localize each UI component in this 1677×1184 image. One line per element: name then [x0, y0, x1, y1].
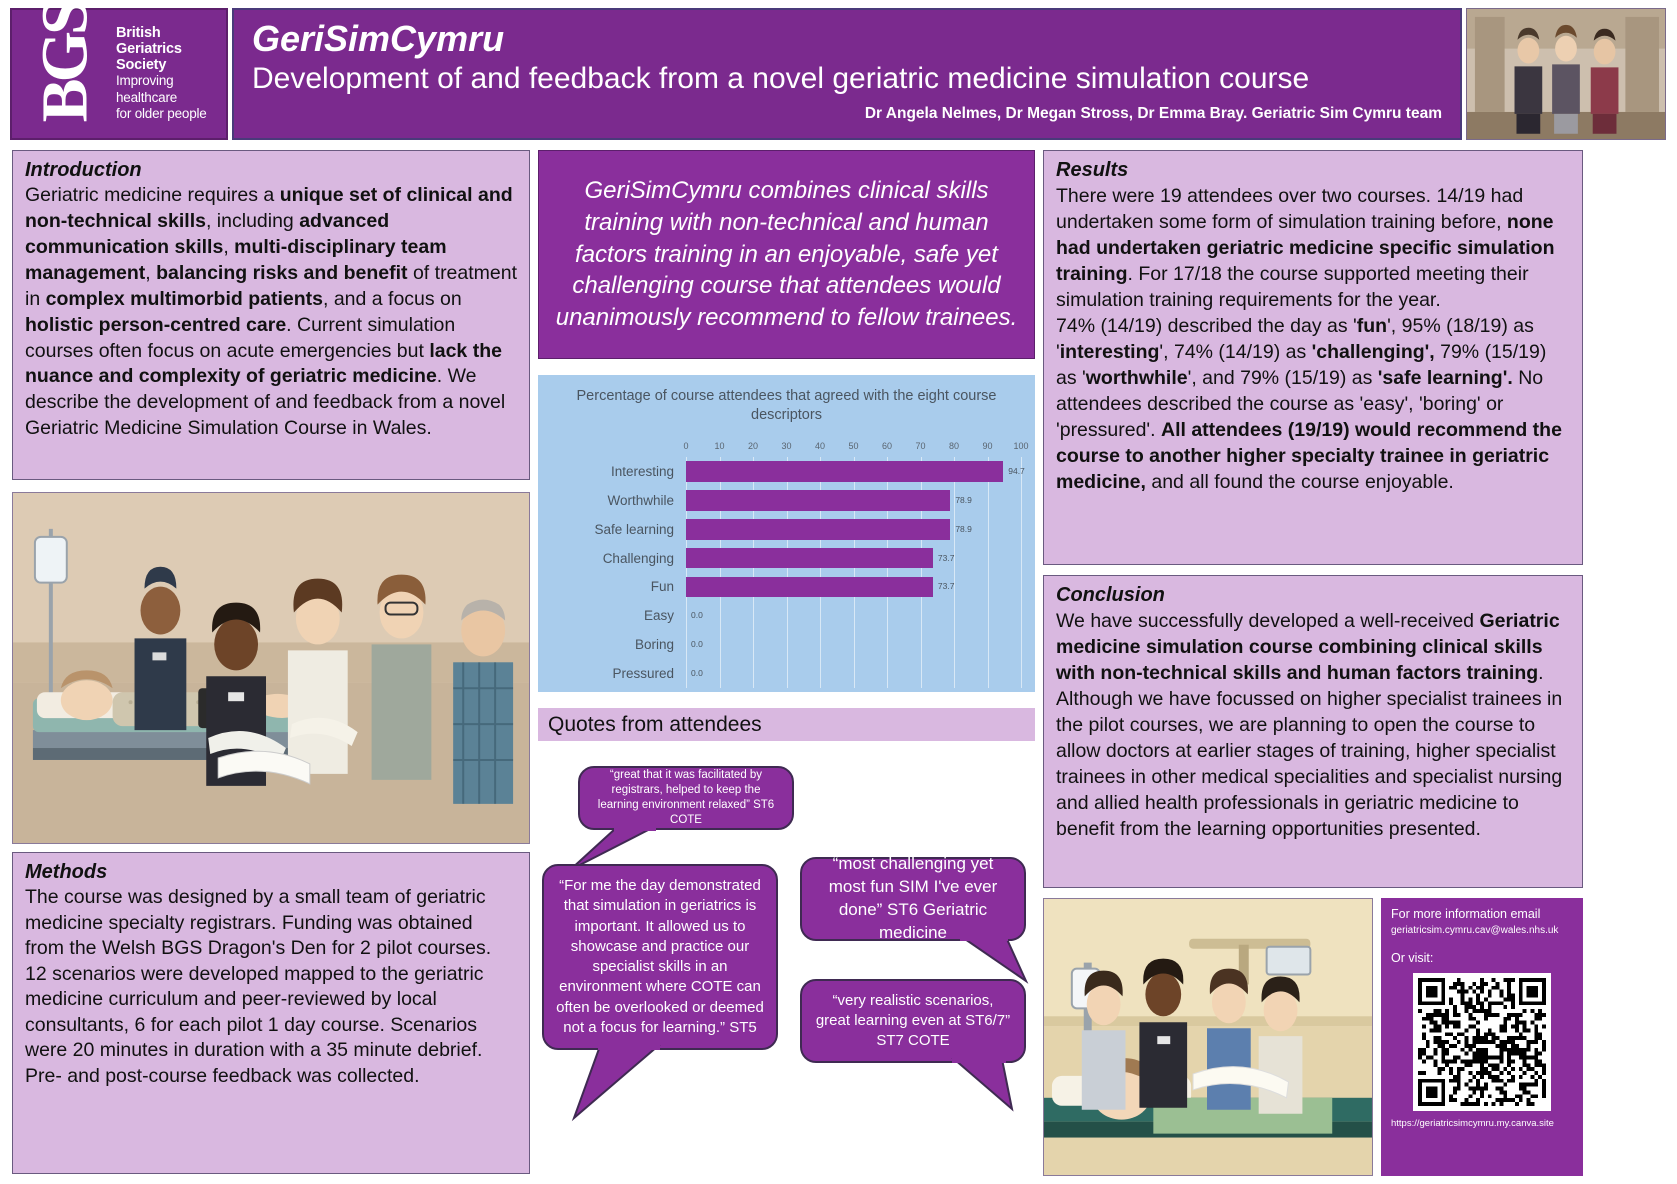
chart-bar-row: Worthwhile78.9: [538, 486, 1021, 515]
chart-bar: [686, 461, 1003, 482]
chart-bar-row: Fun73.7: [538, 573, 1021, 602]
quote-text-3: “most challenging yet most fun SIM I've …: [814, 853, 1012, 945]
key-statement-box: GeriSimCymru combines clinical skills tr…: [538, 150, 1035, 359]
team-photo-illustration: [1467, 9, 1665, 140]
author-list: Dr Angela Nelmes, Dr Megan Stross, Dr Em…: [252, 105, 1442, 123]
quote-bubble-2: “For me the day demonstrated that simula…: [542, 864, 778, 1050]
chart-category-label: Interesting: [538, 457, 674, 486]
chart-bar: [686, 490, 950, 511]
quotes-heading-bar: Quotes from attendees: [538, 708, 1035, 741]
quote-bubble-1: “great that it was facilitated by regist…: [578, 766, 794, 830]
x-tick-80: 80: [949, 441, 959, 451]
chart-value-label: 0.0: [691, 601, 703, 630]
qr-code-icon[interactable]: [1413, 973, 1551, 1111]
x-tick-30: 30: [781, 441, 791, 451]
x-tick-40: 40: [815, 441, 825, 451]
chart-bar: [686, 577, 933, 598]
poster-root: BGS British Geriatrics Society Improving…: [0, 0, 1677, 1184]
quotes-heading: Quotes from attendees: [548, 713, 762, 737]
quote-text-2: “For me the day demonstrated that simula…: [556, 876, 764, 1038]
chart-value-label: 94.7: [1008, 457, 1025, 486]
chart-category-label: Worthwhile: [538, 486, 674, 515]
contact-url[interactable]: https://geriatricsimcymru.my.canva.site: [1391, 1118, 1573, 1129]
introduction-heading: Introduction: [25, 159, 517, 182]
chart-bar-row: Interesting94.7: [538, 457, 1021, 486]
conclusion-section: Conclusion We have successfully develope…: [1043, 575, 1583, 888]
bgs-logo-text: British Geriatrics Society Improving hea…: [114, 25, 220, 122]
chart-value-label: 73.7: [938, 573, 955, 602]
chart-category-label: Safe learning: [538, 515, 674, 544]
chart-category-label: Fun: [538, 573, 674, 602]
page-title: GeriSimCymru: [252, 18, 1442, 59]
x-tick-90: 90: [982, 441, 992, 451]
chart-title: Percentage of course attendees that agre…: [538, 375, 1035, 425]
quote-text-4: “very realistic scenarios, great learnin…: [814, 991, 1012, 1052]
chart-category-label: Challenging: [538, 544, 674, 573]
x-tick-70: 70: [915, 441, 925, 451]
contact-label: For more information email: [1391, 907, 1573, 923]
bgs-monogram: BGS: [40, 26, 93, 122]
contact-visit-label: Or visit:: [1391, 951, 1573, 965]
bgs-tagline: Improving healthcare for older people: [116, 73, 220, 122]
methods-heading: Methods: [25, 861, 517, 884]
chart-x-axis: 0102030405060708090100: [686, 441, 1021, 457]
conclusion-body: We have successfully developed a well-re…: [1056, 608, 1570, 842]
chart-category-label: Pressured: [538, 659, 674, 688]
chart-bar-row: Boring0.0: [538, 630, 1021, 659]
x-tick-60: 60: [882, 441, 892, 451]
results-body: There were 19 attendees over two courses…: [1056, 183, 1570, 495]
chart-plot-area: 0102030405060708090100 Interesting94.7Wo…: [538, 441, 1035, 688]
x-tick-100: 100: [1013, 441, 1028, 451]
bgs-logo: BGS British Geriatrics Society Improving…: [10, 8, 228, 140]
qr-code-svg: [1418, 978, 1546, 1106]
conclusion-heading: Conclusion: [1056, 584, 1570, 607]
simulation-scenario-illustration: [12, 492, 530, 844]
chart-value-label: 78.9: [955, 486, 972, 515]
header-team-photo: [1466, 8, 1666, 140]
chart-value-label: 73.7: [938, 544, 955, 573]
chart-bar-row: Pressured0.0: [538, 659, 1021, 688]
chart-bar: [686, 548, 933, 569]
introduction-section: Introduction Geriatric medicine requires…: [12, 150, 530, 480]
x-tick-50: 50: [848, 441, 858, 451]
chart-category-label: Easy: [538, 601, 674, 630]
debrief-illustration: [1043, 898, 1373, 1176]
page-subtitle: Development of and feedback from a novel…: [252, 61, 1442, 96]
chart-bar: [686, 519, 950, 540]
chart-bar-row: Challenging73.7: [538, 544, 1021, 573]
bgs-society-name: British Geriatrics Society: [116, 25, 220, 73]
results-heading: Results: [1056, 159, 1570, 182]
introduction-body: Geriatric medicine requires a unique set…: [25, 183, 517, 442]
contact-box: For more information email geriatricsim.…: [1381, 898, 1583, 1176]
chart-bar-row: Easy0.0: [538, 601, 1021, 630]
quote-tail-4: [950, 1057, 1030, 1115]
quote-text-1: “great that it was facilitated by regist…: [592, 768, 780, 829]
debrief-illustration-svg: [1044, 899, 1372, 1175]
quote-bubble-4: “very realistic scenarios, great learnin…: [800, 979, 1026, 1063]
chart-value-label: 78.9: [955, 515, 972, 544]
chart-bar-row: Safe learning78.9: [538, 515, 1021, 544]
results-section: Results There were 19 attendees over two…: [1043, 150, 1583, 565]
quote-bubble-3: “most challenging yet most fun SIM I've …: [800, 857, 1026, 941]
methods-body: The course was designed by a small team …: [25, 885, 517, 1089]
x-tick-0: 0: [683, 441, 688, 451]
key-statement-text: GeriSimCymru combines clinical skills tr…: [553, 175, 1020, 333]
x-tick-20: 20: [748, 441, 758, 451]
methods-section: Methods The course was designed by a sma…: [12, 852, 530, 1174]
chart-bars: Interesting94.7Worthwhile78.9Safe learni…: [686, 457, 1021, 688]
quote-tail-2: [560, 1044, 690, 1124]
poster-header: GeriSimCymru Development of and feedback…: [232, 8, 1462, 140]
gridline-100: [1021, 457, 1022, 688]
chart-value-label: 0.0: [691, 659, 703, 688]
x-tick-10: 10: [714, 441, 724, 451]
chart-category-label: Boring: [538, 630, 674, 659]
scenario-illustration-svg: [13, 493, 529, 844]
descriptor-agreement-chart: Percentage of course attendees that agre…: [538, 375, 1035, 692]
contact-email[interactable]: geriatricsim.cymru.cav@wales.nhs.uk: [1391, 924, 1573, 937]
chart-value-label: 0.0: [691, 630, 703, 659]
